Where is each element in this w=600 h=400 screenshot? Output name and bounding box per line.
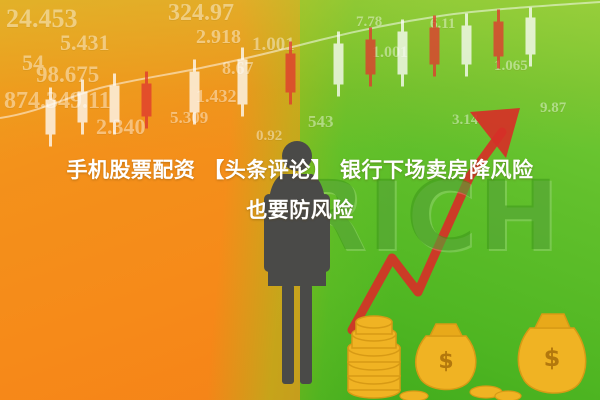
headline-line-1: 手机股票配资 【头条评论】 银行下场卖房降风险 (0, 150, 600, 190)
stock-banner-image: 24.453 324.97 5.431 2.918 54 1.001 98.67… (0, 0, 600, 400)
headline-line-2: 也要防风险 (0, 190, 600, 230)
headline-overlay: 手机股票配资 【头条评论】 银行下场卖房降风险 也要防风险 (0, 150, 600, 230)
